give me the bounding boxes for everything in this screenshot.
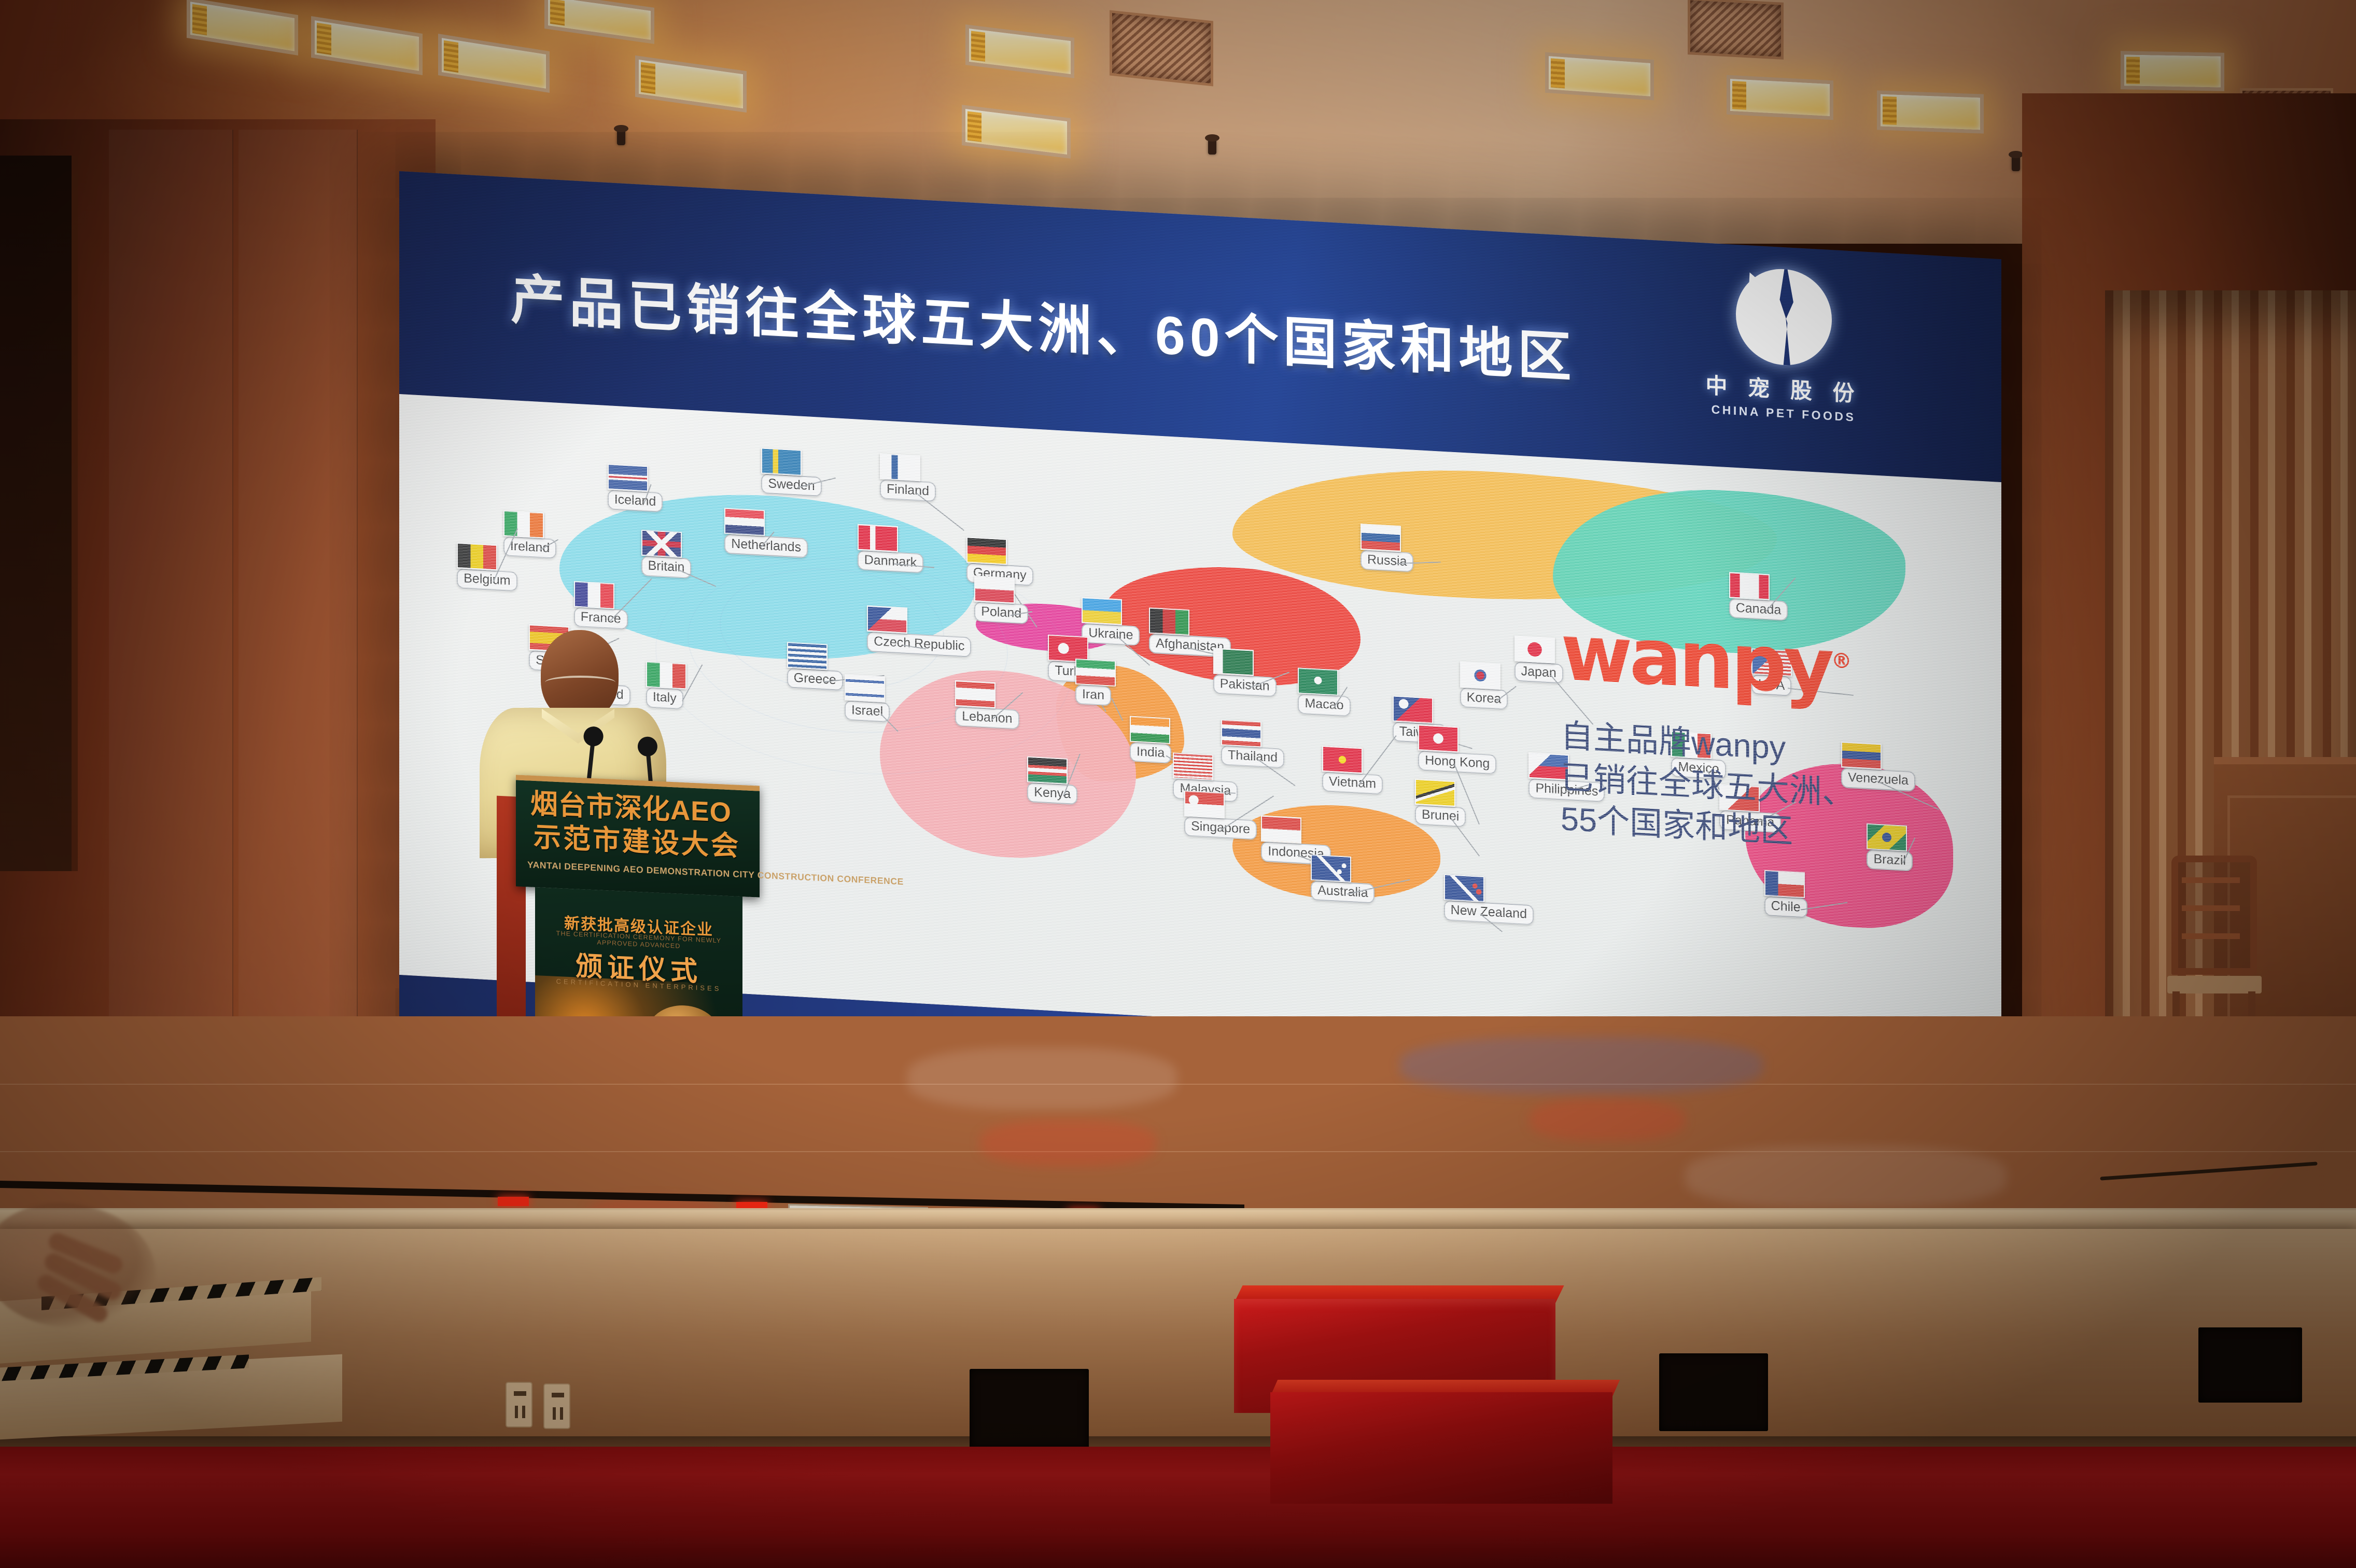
malaysia-flag-icon [1173, 752, 1213, 780]
map-flag-pin: Kenya [1027, 756, 1077, 805]
iceland-flag-icon [608, 464, 648, 492]
map-flag-pin: Israel [845, 674, 890, 722]
stage-marker-light [498, 1197, 529, 1206]
map-flag-pin: Czech Republic [867, 606, 971, 657]
floor-vent-grille [970, 1369, 1089, 1449]
map-flag-pin: Poland [974, 576, 1028, 624]
brunei-flag-icon [1415, 779, 1455, 807]
map-pin-label: Iran [1075, 684, 1111, 706]
australia-flag-icon [1311, 854, 1351, 882]
indonesia-flag-icon [1261, 816, 1301, 844]
map-flag-pin: Iran [1075, 659, 1116, 707]
map-flag-pin: Korea [1460, 662, 1508, 710]
map-flag-pin: Canada [1729, 572, 1788, 621]
india-flag-icon [1130, 716, 1170, 744]
map-flag-pin: Japan [1514, 636, 1563, 684]
taiwan-flag-icon [1393, 695, 1433, 723]
map-pin-label: Britain [641, 556, 692, 579]
france-flag-icon [574, 581, 614, 609]
brand-name-en: CHINA PET FOODS [1690, 401, 1877, 426]
cat-head-logo-icon [1736, 267, 1832, 368]
map-pin-label: Sweden [761, 473, 821, 497]
ceiling-light [1877, 90, 1984, 133]
map-pin-label: Vietnam [1322, 772, 1383, 795]
map-flag-pin: Danmark [858, 524, 923, 573]
iran-flag-icon [1075, 659, 1116, 687]
chile-flag-icon [1764, 870, 1805, 898]
britain-flag-icon [641, 530, 682, 558]
sprinkler-icon [2012, 156, 2020, 171]
map-pin-label: Iceland [608, 489, 663, 512]
afghanistan-flag-icon [1149, 607, 1189, 635]
hvac-diffuser-icon [1688, 0, 1784, 60]
red-carpet [0, 1447, 2356, 1568]
map-flag-pin: Pakistan [1213, 648, 1277, 697]
greece-flag-icon [787, 642, 828, 670]
map-flag-pin: France [574, 581, 628, 629]
vietnam-flag-icon [1322, 746, 1363, 774]
wanpy-panel: wanpy® 自主品牌wanpy 已销往全球五大洲、 55个国家和地区 [1561, 613, 1924, 860]
floor-vent-grille [2198, 1327, 2302, 1403]
finland-flag-icon [880, 453, 920, 481]
lectern-header-sign: 烟台市深化AEO 示范市建设大会 YANTAI DEEPENING AEO DE… [516, 775, 760, 897]
map-pin-label: Israel [845, 700, 890, 722]
ireland-flag-icon [503, 510, 544, 538]
map-pin-label: Brunei [1415, 805, 1466, 828]
macao-flag-icon [1298, 668, 1338, 696]
singapore-flag-icon [1184, 790, 1225, 818]
conference-title-line2: 示范市建设大会 [534, 823, 740, 860]
poland-flag-icon [974, 576, 1015, 604]
hong-kong-flag-icon [1418, 724, 1459, 752]
map-pin-label: Korea [1460, 688, 1508, 710]
map-flag-pin: Greece [787, 642, 843, 691]
canada-flag-icon [1729, 572, 1770, 600]
new-zealand-flag-icon [1444, 874, 1484, 902]
map-flag-pin: Hong Kong [1418, 724, 1496, 775]
map-pin-label: Kenya [1027, 782, 1077, 805]
map-flag-pin: India [1130, 716, 1171, 764]
map-pin-label: Russia [1361, 550, 1413, 572]
map-pin-label: Finland [880, 479, 936, 502]
stage-apron [0, 1229, 2356, 1452]
map-flag-pin: Sweden [761, 447, 821, 497]
map-flag-pin: Vietnam [1322, 746, 1383, 795]
map-flag-pin: Netherlands [724, 508, 808, 558]
stage-photo-scene: 产品已销往全球五大洲、60个国家和地区 中 宠 股 份 CHINA PET FO… [0, 0, 2356, 1568]
map-flag-pin: Lebanon [955, 680, 1019, 730]
sprinkler-icon [617, 130, 625, 145]
wall-dark-frame [0, 156, 78, 871]
czech-republic-flag-icon [867, 606, 907, 634]
pakistan-flag-icon [1213, 648, 1254, 676]
power-socket-icon[interactable] [543, 1383, 570, 1429]
floor-vent-grille [1659, 1353, 1768, 1431]
korea-flag-icon [1460, 662, 1500, 690]
netherlands-flag-icon [724, 508, 765, 536]
thailand-flag-icon [1221, 719, 1261, 747]
conference-title-line1: 烟台市深化AEO [530, 790, 732, 827]
israel-flag-icon [845, 674, 885, 702]
ceiling-light [1727, 75, 1833, 120]
map-leader-line [916, 493, 964, 531]
japan-flag-icon [1514, 636, 1555, 664]
map-flag-pin: Belgium [457, 542, 517, 592]
map-pin-label: Singapore [1184, 816, 1257, 840]
belgium-flag-icon [457, 542, 497, 570]
russia-flag-icon [1361, 524, 1401, 552]
ceiling-light [1545, 52, 1654, 101]
ukraine-flag-icon [1082, 597, 1122, 625]
map-pin-label: India [1130, 742, 1171, 764]
map-flag-pin: New Zealand [1444, 874, 1534, 925]
map-flag-pin: Iceland [608, 464, 663, 512]
eyeglasses-icon [545, 676, 615, 689]
map-leader-line [1451, 818, 1480, 856]
map-flag-pin: Russia [1361, 524, 1413, 572]
sprinkler-icon [1208, 139, 1216, 155]
brand-block: 中 宠 股 份 CHINA PET FOODS [1690, 264, 1877, 426]
sweden-flag-icon [761, 447, 802, 475]
map-flag-pin: Singapore [1184, 790, 1257, 840]
stage-access-steps[interactable] [1234, 1299, 1618, 1506]
lebanon-flag-icon [955, 680, 995, 708]
brand-name-cn: 中 宠 股 份 [1690, 367, 1877, 409]
hvac-diffuser-icon [1110, 10, 1213, 86]
map-pin-label: Australia [1311, 880, 1375, 903]
map-pin-label: Belgium [457, 568, 517, 592]
map-flag-pin: Finland [880, 453, 936, 502]
map-flag-pin: Britain [641, 530, 692, 579]
map-flag-pin: Australia [1311, 854, 1375, 903]
kenya-flag-icon [1027, 756, 1068, 784]
map-pin-label: Lebanon [955, 706, 1019, 730]
map-pin-label: Greece [787, 668, 843, 691]
wanpy-description: 自主品牌wanpy 已销往全球五大洲、 55个国家和地区 [1561, 715, 1924, 860]
map-pin-label: Chile [1764, 896, 1807, 918]
map-flag-pin: Brunei [1415, 779, 1466, 828]
map-pin-label: Macao [1298, 694, 1350, 717]
map-flag-pin: Chile [1764, 870, 1807, 918]
map-pin-label: Danmark [858, 550, 923, 573]
map-flag-pin: Macao [1298, 668, 1350, 717]
denmark-flag-icon [858, 524, 898, 552]
ceiling-light [2121, 51, 2224, 91]
map-pin-label: Pakistan [1213, 674, 1277, 697]
germany-flag-icon [966, 537, 1007, 565]
screen-title: 产品已销往全球五大洲、60个国家和地区 [511, 255, 1576, 392]
power-socket-icon[interactable] [506, 1382, 532, 1427]
